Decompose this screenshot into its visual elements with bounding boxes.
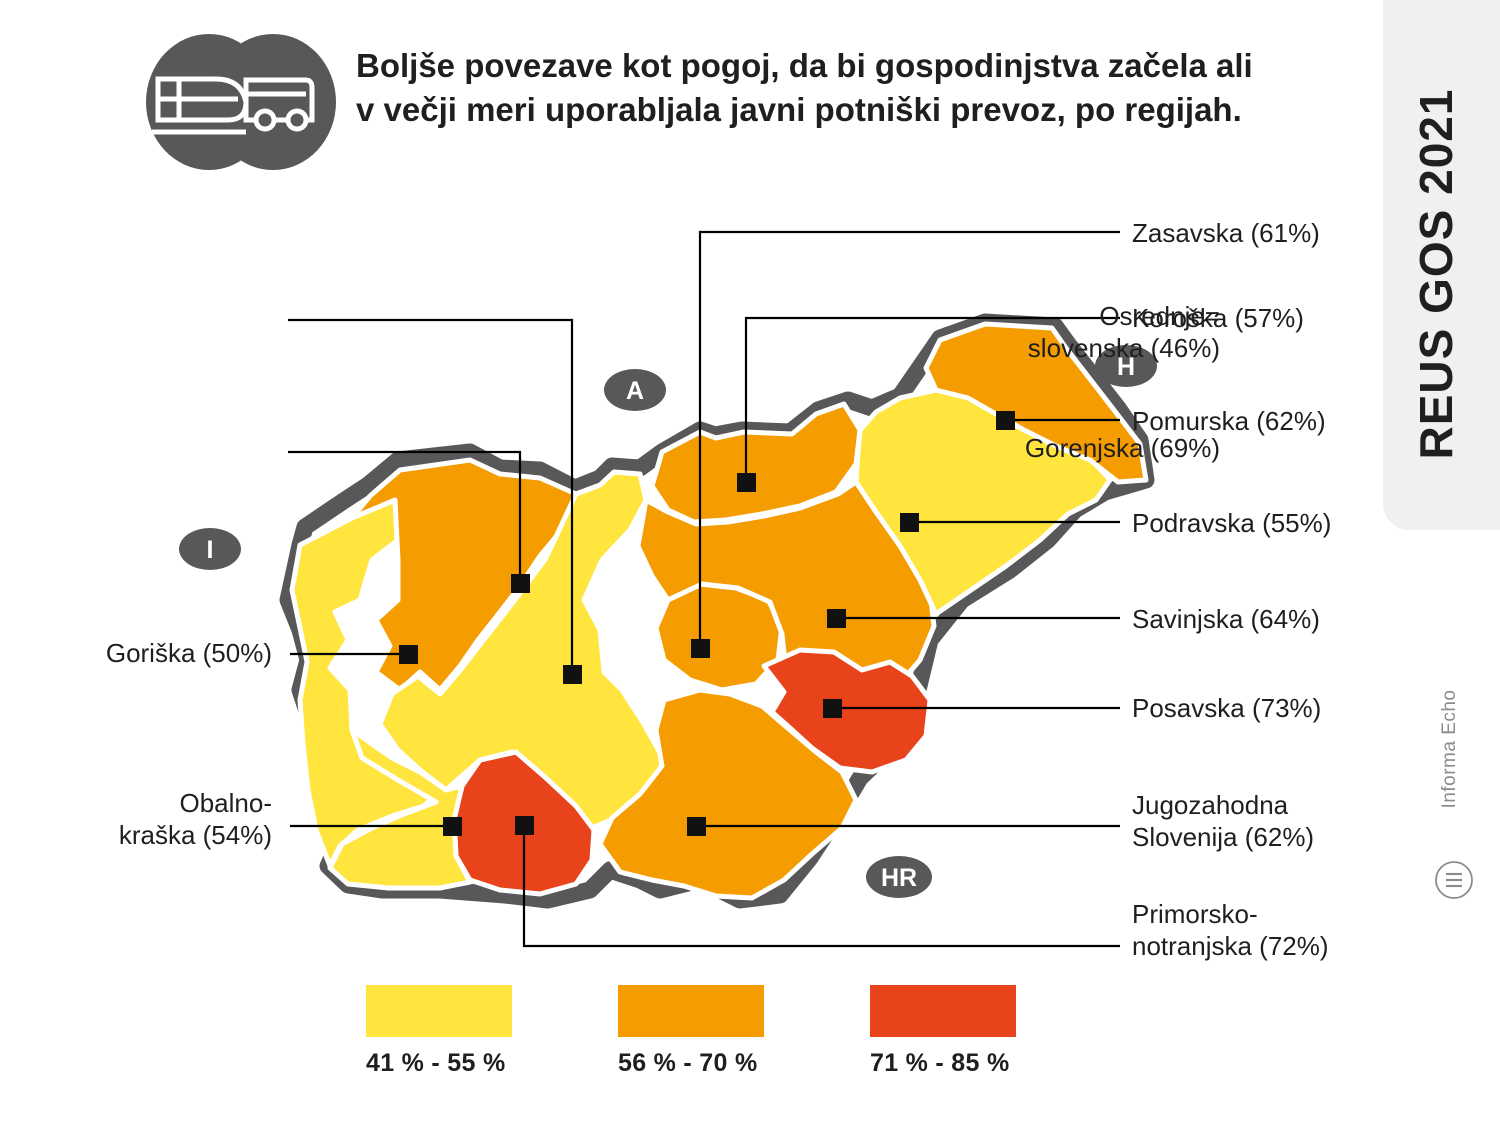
label-primorsko-notranjska: Primorsko- notranjska (72%)	[1132, 898, 1329, 962]
marker-primorsko-notranjska[interactable]	[515, 816, 534, 835]
badge-I-label: I	[207, 536, 214, 564]
marker-goriska[interactable]	[399, 645, 418, 664]
legend-item-mid: 56 % - 70 %	[618, 985, 768, 1078]
label-zasavska: Zasavska (61%)	[1132, 217, 1320, 249]
legend-label-high: 71 % - 85 %	[870, 1049, 1020, 1078]
legend-swatch-low	[366, 985, 512, 1037]
marker-podravska[interactable]	[900, 513, 919, 532]
label-obalno-kraska: Obalno- kraška (54%)	[119, 787, 272, 851]
marker-savinjska[interactable]	[827, 609, 846, 628]
label-podravska: Podravska (55%)	[1132, 507, 1331, 539]
badge-HR: HR	[866, 856, 932, 898]
marker-obalno-kraska[interactable]	[443, 817, 462, 836]
badge-A: A	[604, 369, 666, 411]
marker-koroska[interactable]	[737, 473, 756, 492]
marker-gorenjska[interactable]	[511, 574, 530, 593]
legend-item-high: 71 % - 85 %	[870, 985, 1020, 1078]
label-koroska: Koroška (57%)	[1132, 302, 1304, 334]
badge-HR-label: HR	[881, 864, 917, 892]
marker-jugozahodna[interactable]	[687, 817, 706, 836]
marker-posavska[interactable]	[823, 699, 842, 718]
legend-label-low: 41 % - 55 %	[366, 1049, 516, 1078]
label-pomurska: Pomurska (62%)	[1132, 405, 1326, 437]
label-posavska: Posavska (73%)	[1132, 692, 1321, 724]
badge-A-label: A	[626, 377, 644, 405]
marker-zasavska[interactable]	[691, 639, 710, 658]
badge-I: I	[179, 528, 241, 570]
marker-osrednjeslovenska[interactable]	[563, 665, 582, 684]
label-jugozahodna: Jugozahodna Slovenija (62%)	[1132, 789, 1314, 853]
legend: 41 % - 55 % 56 % - 70 % 71 % - 85 %	[366, 985, 1026, 1095]
marker-pomurska[interactable]	[996, 411, 1015, 430]
legend-label-mid: 56 % - 70 %	[618, 1049, 768, 1078]
legend-item-low: 41 % - 55 %	[366, 985, 516, 1078]
label-goriska: Goriška (50%)	[106, 637, 272, 669]
legend-swatch-high	[870, 985, 1016, 1037]
legend-swatch-mid	[618, 985, 764, 1037]
region-shapes	[292, 324, 1146, 898]
label-savinjska: Savinjska (64%)	[1132, 603, 1320, 635]
